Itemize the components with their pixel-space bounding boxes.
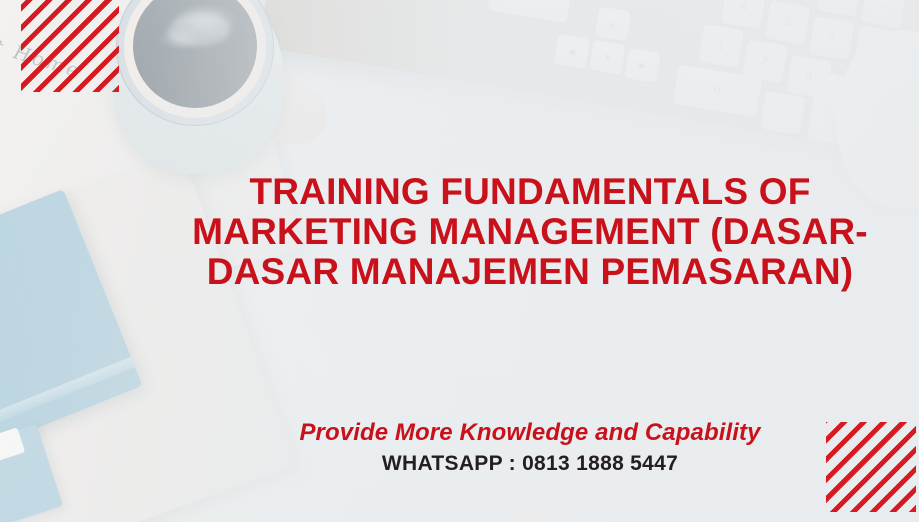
title-line-2: MARKETING MANAGEMENT (DASAR-	[130, 212, 919, 252]
title-line-3: DASAR MANAJEMEN PEMASARAN)	[130, 252, 919, 292]
whatsapp-contact: WHATSAPP : 0813 1888 5447	[130, 451, 919, 477]
banner-content: TRAINING FUNDAMENTALS OF MARKETING MANAG…	[0, 0, 919, 522]
tagline-text: Provide More Knowledge and Capability	[130, 418, 919, 448]
title-line-1: TRAINING FUNDAMENTALS OF	[130, 172, 919, 212]
page-title: TRAINING FUNDAMENTALS OF MARKETING MANAG…	[130, 172, 919, 292]
banner-footer: Provide More Knowledge and Capability WH…	[130, 418, 919, 477]
training-banner: Work at Home shift ▲ ◀ ▼ ▶ 4 5 6 + 8 9 -…	[0, 0, 919, 522]
